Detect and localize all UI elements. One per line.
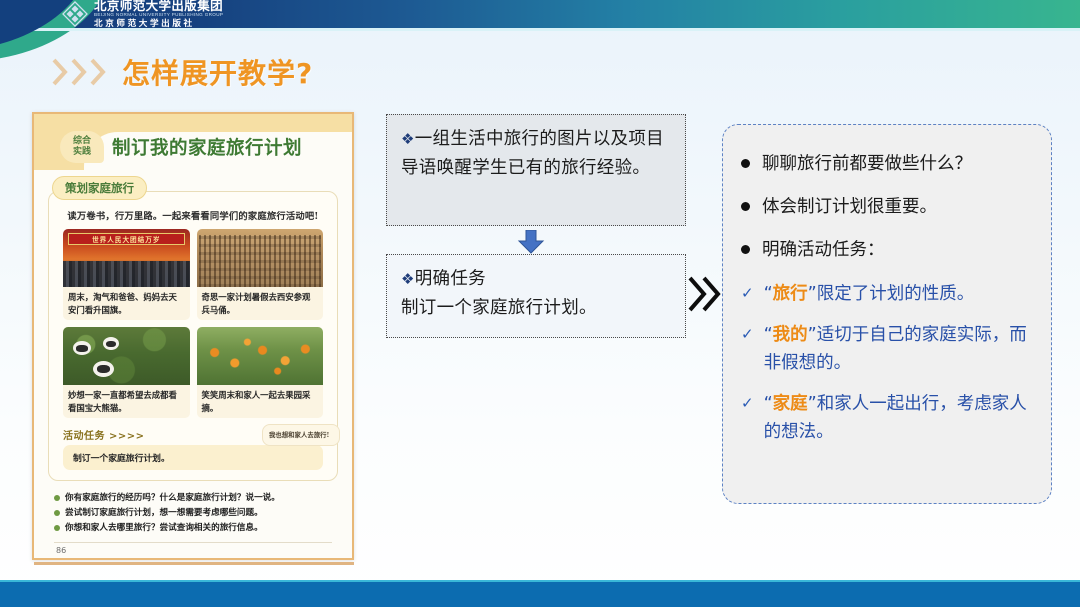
keyword-body: ”限定了计划的性质。 <box>808 284 975 304</box>
list-item: ✓ “家庭”和家人一起出行，考虑家人的想法。 <box>741 390 1033 446</box>
photo-cell: 妙想一家一直都希望去成都看看国宝大熊猫。 <box>63 327 190 418</box>
quote-open: “ <box>764 394 773 414</box>
quote-open: “ <box>764 284 773 304</box>
publisher-logo: 北京师范大学出版集团 BEIJING NORMAL UNIVERSITY PUB… <box>62 0 223 28</box>
textbook-page-image: 综合 实践 制订我的家庭旅行计划 策划家庭旅行 读万卷书，行万里路。一起来看看同… <box>32 112 354 560</box>
title-chevrons <box>52 57 108 87</box>
keyword-explanation: “家庭”和家人一起出行，考虑家人的想法。 <box>764 390 1033 446</box>
diamond-grid-logo-icon <box>62 1 88 27</box>
textbook-section-tab: 策划家庭旅行 <box>52 176 147 200</box>
flow-box-2-line1: ❖明确任务 <box>401 265 671 294</box>
photo-caption: 妙想一家一直都希望去成都看看国宝大熊猫。 <box>63 385 190 415</box>
footer-hairline <box>0 580 1080 582</box>
photo-cell: 奇思一家计划暑假去西安参观兵马俑。 <box>197 229 324 320</box>
bullet-dot-icon <box>741 202 750 211</box>
photo-caption: 周末，淘气和爸爸、妈妈去天安门看升国旗。 <box>63 287 190 317</box>
flow-box-experience: ❖一组生活中旅行的图片以及项目导语唤醒学生已有的旅行经验。 <box>386 114 686 226</box>
quote-open: “ <box>764 325 773 345</box>
double-chevron-right-icon <box>71 57 89 87</box>
bullet-dot-icon <box>54 495 60 501</box>
flag-raising-photo: 世界人民大团结万岁 <box>63 229 190 287</box>
list-item: ✓ “旅行”限定了计划的性质。 <box>741 280 1033 308</box>
photo-cell: 笑笑周末和家人一起去果园采摘。 <box>197 327 324 418</box>
panda-shape <box>103 337 119 350</box>
list-item: 体会制订计划很重要。 <box>741 194 1033 220</box>
list-item: ✓ “我的”适切于自己的家庭实际，而非假想的。 <box>741 321 1033 377</box>
keyword-highlight: 旅行 <box>773 284 808 304</box>
photo-caption: 笑笑周末和家人一起去果园采摘。 <box>197 385 324 415</box>
textbook-header: 综合 实践 制订我的家庭旅行计划 <box>34 114 352 170</box>
photo-banner-text: 世界人民大团结万岁 <box>68 233 185 245</box>
panda-shape <box>73 341 91 355</box>
check-mark-icon: ✓ <box>741 325 754 343</box>
double-chevron-right-icon <box>90 57 108 87</box>
double-chevron-right-icon <box>52 57 70 87</box>
flow-chevron-icon <box>686 272 722 321</box>
slide-title-row: 怎样展开教学? <box>52 52 313 92</box>
teaching-point-text: 明确活动任务： <box>762 237 885 263</box>
keyword-explanation: “旅行”限定了计划的性质。 <box>764 280 975 308</box>
textbook-body: 策划家庭旅行 读万卷书，行万里路。一起来看看同学们的家庭旅行活动吧! 世界人民大… <box>34 170 352 555</box>
diamond-bullet-icon: ❖ <box>401 130 415 148</box>
panda-shape <box>93 361 114 377</box>
flow-box-2-line2: 制订一个家庭旅行计划。 <box>401 294 671 323</box>
flow-box-2-title: 明确任务 <box>415 269 486 289</box>
badge-line-1: 综合 <box>73 136 91 147</box>
textbook-question-list: 你有家庭旅行的经历吗？什么是家庭旅行计划？说一说。 尝试制订家庭旅行计划，想一想… <box>54 491 332 536</box>
footer-bar <box>0 582 1080 607</box>
flow-box-1-text: ❖一组生活中旅行的图片以及项目导语唤醒学生已有的旅行经验。 <box>401 125 671 183</box>
photo-caption: 奇思一家计划暑假去西安参观兵马俑。 <box>197 287 324 317</box>
flow-box-1-body: 一组生活中旅行的图片以及项目导语唤醒学生已有的旅行经验。 <box>401 129 664 178</box>
photo-cell: 世界人民大团结万岁 周末，淘气和爸爸、妈妈去天安门看升国旗。 <box>63 229 190 320</box>
bullet-dot-icon <box>54 525 60 531</box>
textbook-category-badge: 综合 实践 <box>60 131 104 163</box>
textbook-page-number: 86 <box>56 546 338 555</box>
logo-subtitle-cn: 北京师范大学出版社 <box>94 20 223 29</box>
list-item: 聊聊旅行前都要做些什么？ <box>741 151 1033 177</box>
badge-line-2: 实践 <box>73 147 91 158</box>
check-mark-icon: ✓ <box>741 284 754 302</box>
page-title: 怎样展开教学? <box>122 52 313 92</box>
list-item: 你想和家人去哪里旅行？尝试查询相关的旅行信息。 <box>54 521 332 536</box>
bullet-dot-icon <box>741 245 750 254</box>
check-mark-icon: ✓ <box>741 394 754 412</box>
down-arrow-icon <box>516 230 546 254</box>
teaching-points-panel: 聊聊旅行前都要做些什么？ 体会制订计划很重要。 明确活动任务： ✓ “旅行”限定… <box>722 124 1052 504</box>
keyword-highlight: 我的 <box>773 325 808 345</box>
textbook-lead-text: 读万卷书，行万里路。一起来看看同学们的家庭旅行活动吧! <box>59 208 327 222</box>
textbook-heading: 制订我的家庭旅行计划 <box>112 134 302 160</box>
keyword-explanation: “我的”适切于自己的家庭实际，而非假想的。 <box>764 321 1033 377</box>
textbook-photo-grid: 世界人民大团结万岁 周末，淘气和爸爸、妈妈去天安门看升国旗。 奇思一家计划暑假去… <box>59 229 327 418</box>
textbook-divider <box>54 542 332 543</box>
list-item: 尝试制订家庭旅行计划，想一想需要考虑哪些问题。 <box>54 506 332 521</box>
terracotta-warriors-photo <box>197 229 324 287</box>
bullet-dot-icon <box>741 159 750 168</box>
panda-photo <box>63 327 190 385</box>
fruit-texture <box>197 327 324 385</box>
teaching-point-text: 体会制订计划很重要。 <box>762 194 937 220</box>
crowd-texture <box>63 261 190 287</box>
flow-box-task: ❖明确任务 制订一个家庭旅行计划。 <box>386 254 686 338</box>
logo-title-cn: 北京师范大学出版集团 <box>94 0 223 12</box>
warrior-rows-texture <box>199 235 322 287</box>
bamboo-foliage-texture <box>63 327 190 385</box>
keyword-highlight: 家庭 <box>773 394 808 414</box>
textbook-task-text: 制订一个家庭旅行计划。 <box>63 445 323 470</box>
orchard-photo <box>197 327 324 385</box>
logo-title-en: BEIJING NORMAL UNIVERSITY PUBLISHING GRO… <box>94 13 223 18</box>
question-text: 你有家庭旅行的经历吗？什么是家庭旅行计划？说一说。 <box>65 491 280 506</box>
slide-root: 北京师范大学出版集团 BEIJING NORMAL UNIVERSITY PUB… <box>0 0 1080 607</box>
question-text: 你想和家人去哪里旅行？尝试查询相关的旅行信息。 <box>65 521 263 536</box>
diamond-bullet-icon: ❖ <box>401 270 415 288</box>
bullet-dot-icon <box>54 510 60 516</box>
textbook-speech-bubble: 我也想和家人去旅行! <box>262 424 340 446</box>
footer-accent-rule <box>34 562 354 565</box>
teaching-point-text: 聊聊旅行前都要做些什么？ <box>762 151 972 177</box>
list-item: 明确活动任务： <box>741 237 1033 263</box>
question-text: 尝试制订家庭旅行计划，想一想需要考虑哪些问题。 <box>65 506 263 521</box>
list-item: 你有家庭旅行的经历吗？什么是家庭旅行计划？说一说。 <box>54 491 332 506</box>
